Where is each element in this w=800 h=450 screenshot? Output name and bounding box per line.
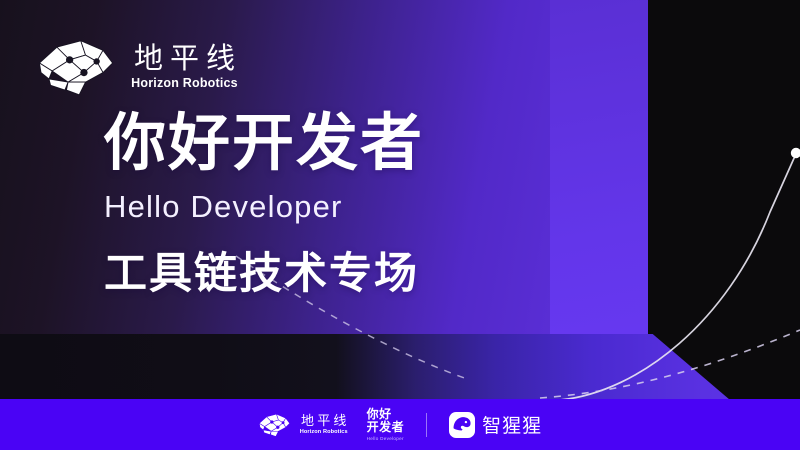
footer-brand-en: Horizon Robotics [300, 429, 348, 435]
hero-text-block: 你好开发者 Hello Developer 工具链技术专场 [104, 112, 424, 301]
hero-title: 你好开发者 [104, 112, 424, 175]
header-wordmark: 地平线 Horizon Robotics [127, 44, 242, 90]
footer-partner-name: 智猩猩 [482, 411, 542, 438]
footer-program-logo: 你好 开发者 Hello Developer [367, 408, 405, 440]
footer-brand-cn: 地平线 [298, 414, 350, 428]
header-brand-en: Horizon Robotics [131, 76, 238, 90]
footer-partner-logo: 智猩猩 [449, 411, 542, 438]
header-logo: 地平线 Horizon Robotics [36, 36, 242, 98]
footer-horizon-wordmark: 地平线 Horizon Robotics [298, 414, 350, 435]
background-right-purple-panel [550, 0, 648, 334]
footer-horizon-logo: 地平线 Horizon Robotics [258, 412, 350, 438]
slide-canvas: 地平线 Horizon Robotics 你好开发者 Hello Develop… [0, 0, 800, 450]
hero-tagline: 工具链技术专场 [104, 239, 424, 301]
footer-program-line2: 开发者 [367, 421, 405, 434]
header-brand-cn: 地平线 [127, 44, 242, 74]
footer-brand-row: 地平线 Horizon Robotics 你好 开发者 Hello Develo… [258, 408, 542, 440]
footer-divider [426, 413, 427, 437]
horizon-brain-polygon-icon [36, 36, 116, 98]
horizon-brain-polygon-icon [258, 412, 291, 438]
footer-brand-bar: 地平线 Horizon Robotics 你好 开发者 Hello Develo… [0, 399, 800, 450]
ape-head-icon [449, 412, 475, 438]
hero-subtitle: Hello Developer [104, 189, 424, 225]
footer-program-subtitle: Hello Developer [367, 436, 404, 441]
